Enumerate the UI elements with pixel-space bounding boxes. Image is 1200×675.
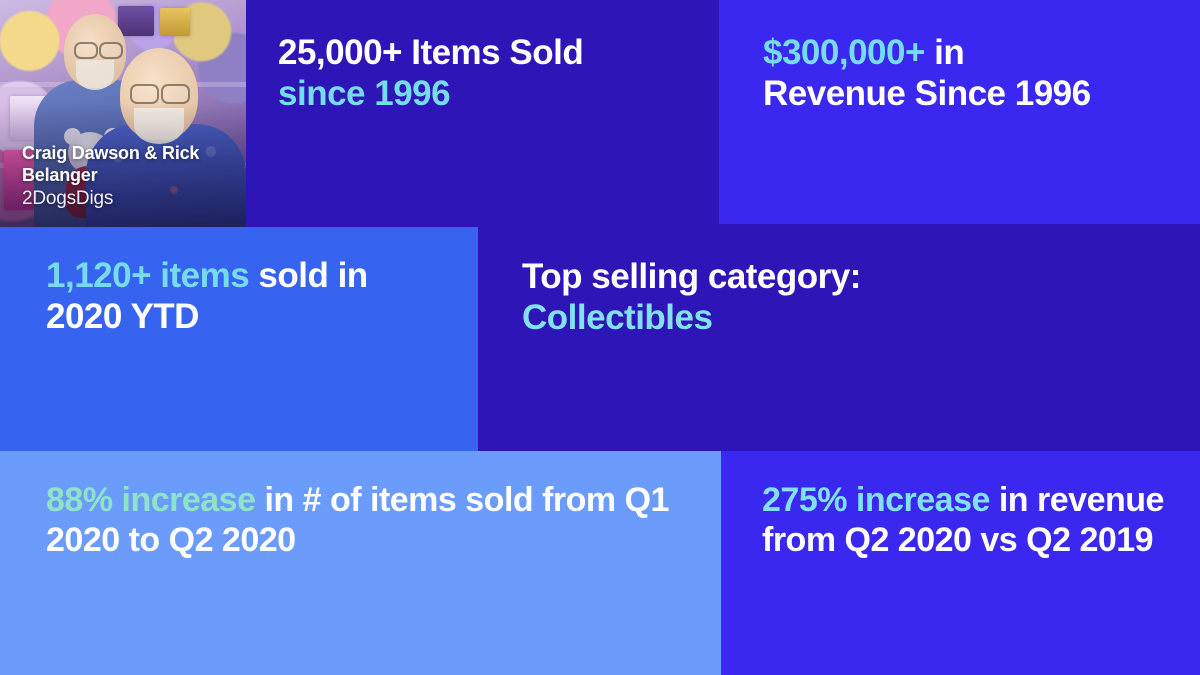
stat-panel-items-sold: 25,000+ Items Sold since 1996 xyxy=(246,0,719,227)
stat-panel-top-category: Top selling category: Collectibles xyxy=(478,224,1200,451)
photo-caption: Craig Dawson & Rick Belanger 2DogsDigs xyxy=(22,143,238,211)
stat-items-sold-primary: 25,000+ Items Sold xyxy=(278,33,583,72)
stat-panel-items-increase: 88% increase in # of items sold from Q1 … xyxy=(0,451,721,675)
stat-items-sold-headline: 25,000+ Items Sold since 1996 xyxy=(278,32,689,115)
stat-panel-revenue-increase: 275% increase in revenue from Q2 2020 vs… xyxy=(721,451,1200,675)
stat-revenue-amount: $300,000+ xyxy=(763,33,925,72)
stat-panel-ytd-items: 1,120+ items sold in 2020 YTD xyxy=(0,227,478,451)
stat-category-label: Top selling category: xyxy=(522,257,861,296)
stat-revenue-headline: $300,000+ in Revenue Since 1996 xyxy=(763,32,1176,115)
stat-items-increase-headline: 88% increase in # of items sold from Q1 … xyxy=(46,480,681,560)
seller-handle: 2DogsDigs xyxy=(22,188,238,211)
stat-items-increase-percent: 88% increase xyxy=(46,481,256,519)
stat-revenue-connector: in xyxy=(925,33,964,72)
stat-items-sold-secondary: since 1996 xyxy=(278,74,450,113)
seller-photo-tile: Craig Dawson & Rick Belanger 2DogsDigs xyxy=(0,0,246,227)
stat-revenue-increase-percent: 275% increase xyxy=(762,481,990,519)
stat-revenue-increase-headline: 275% increase in revenue from Q2 2020 vs… xyxy=(762,480,1172,560)
stat-category-headline: Top selling category: Collectibles xyxy=(522,256,1170,339)
stat-panel-revenue: $300,000+ in Revenue Since 1996 xyxy=(719,0,1200,224)
stat-ytd-headline: 1,120+ items sold in 2020 YTD xyxy=(46,255,444,338)
stat-revenue-secondary: Revenue Since 1996 xyxy=(763,74,1091,113)
stat-ytd-amount: 1,120+ items xyxy=(46,256,249,295)
stat-category-value: Collectibles xyxy=(522,298,712,337)
stat-ytd-connector: sold in xyxy=(249,256,368,295)
stats-slide: Craig Dawson & Rick Belanger 2DogsDigs 2… xyxy=(0,0,1200,675)
seller-names: Craig Dawson & Rick Belanger xyxy=(22,143,238,186)
stat-ytd-secondary: 2020 YTD xyxy=(46,297,199,336)
